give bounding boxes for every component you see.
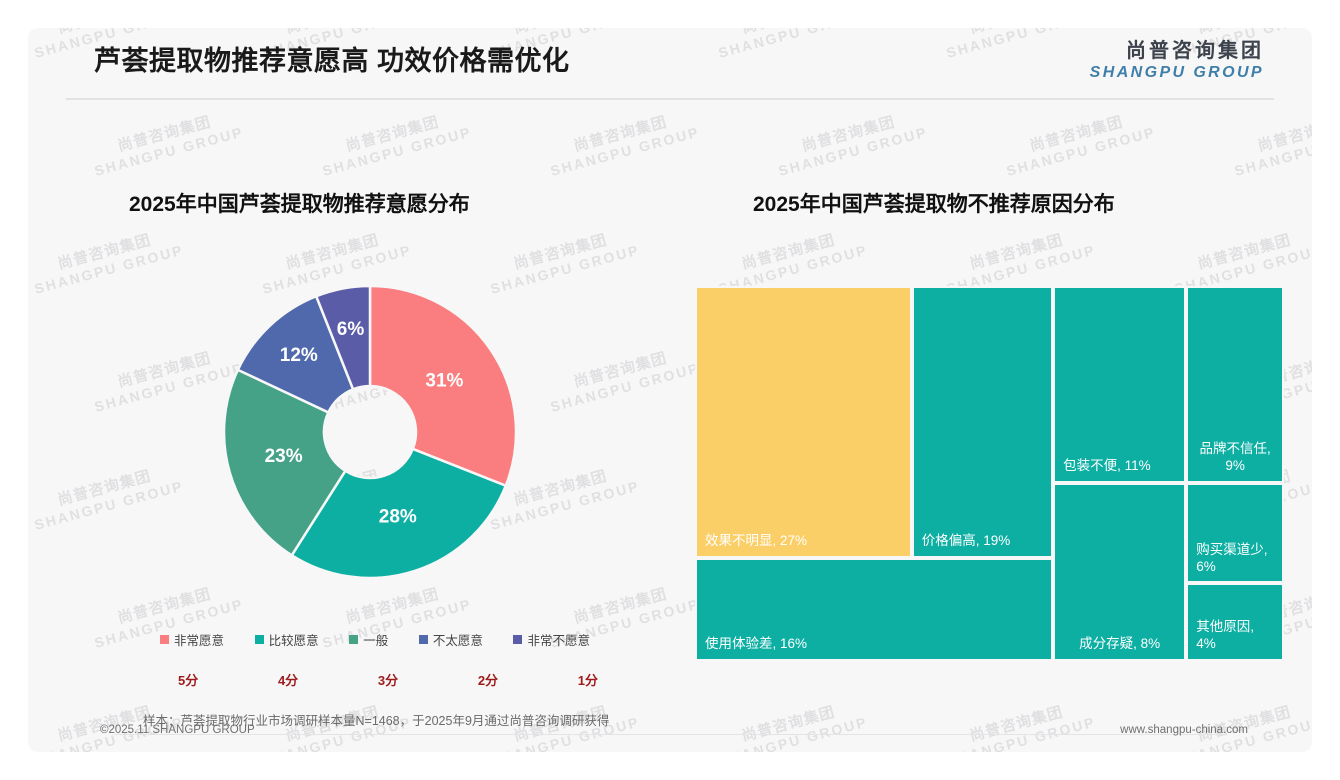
treemap-cell[interactable]: 价格偏高, 19% [912,286,1053,558]
watermark-text: 尚普咨询集团SHANGPU GROUP [1000,106,1157,179]
copyright-text: ©2025.11 SHANGPU GROUP [100,724,255,736]
slide-footer: ©2025.11 SHANGPU GROUP www.shangpu-china… [28,714,1312,752]
watermark-text: 尚普咨询集团SHANGPU GROUP [1228,106,1312,179]
left-chart-title: 2025年中国芦荟提取物推荐意愿分布 [129,188,470,218]
watermark-text: 尚普咨询集团SHANGPU GROUP [772,106,929,179]
legend-swatch-icon [160,635,169,644]
score-label: 1分 [578,670,598,689]
website-link[interactable]: www.shangpu-china.com [1120,724,1248,736]
watermark-text: 尚普咨询集团SHANGPU GROUP [88,106,245,179]
treemap-cell-label: 成分存疑, 8% [1055,636,1184,653]
legend-swatch-icon [419,635,428,644]
treemap-cell[interactable]: 购买渠道少, 6% [1186,483,1284,584]
legend-label: 不太愿意 [433,630,483,649]
legend-label: 非常不愿意 [527,630,590,649]
legend-item[interactable]: 不太愿意 [419,630,483,649]
treemap-cell[interactable]: 效果不明显, 27% [695,286,912,558]
donut-slice-label: 28% [379,507,417,528]
treemap-cell-label: 效果不明显, 27% [697,533,910,550]
legend-item[interactable]: 非常愿意 [160,630,224,649]
watermark-text: 尚普咨询集团SHANGPU GROUP [544,106,701,179]
donut-slice-label: 6% [337,319,365,340]
treemap-cell[interactable]: 成分存疑, 8% [1053,483,1186,661]
legend-label: 比较愿意 [269,630,319,649]
logo-english-text: SHANGPU GROUP [1090,64,1264,82]
watermark-text: 尚普咨询集团SHANGPU GROUP [28,224,185,297]
watermark-text: 尚普咨询集团SHANGPU GROUP [28,460,185,533]
treemap-cell-label: 其他原因, 4% [1188,619,1282,653]
header-divider [66,98,1274,100]
donut-legend: 非常愿意比较愿意一般不太愿意非常不愿意 [160,628,590,650]
score-label: 5分 [178,670,198,689]
treemap-cell[interactable]: 其他原因, 4% [1186,583,1284,661]
legend-item[interactable]: 非常不愿意 [513,630,590,649]
slide-header: 芦荟提取物推荐意愿高 功效价格需优化 尚普咨询集团 SHANGPU GROUP [28,28,1312,98]
donut-slice-label: 12% [280,345,318,366]
slide-canvas: 尚普咨询集团SHANGPU GROUP尚普咨询集团SHANGPU GROUP尚普… [28,28,1312,752]
donut-chart-svg: 31%28%23%12%6% [200,260,540,610]
treemap-cell[interactable]: 包装不便, 11% [1053,286,1186,483]
score-scale-row: 5分4分3分2分1分 [178,668,598,690]
donut-slice-group [224,286,516,578]
legend-swatch-icon [349,635,358,644]
score-label: 2分 [478,670,498,689]
score-label: 3分 [378,670,398,689]
right-chart-title: 2025年中国芦荟提取物不推荐原因分布 [753,188,1115,218]
watermark-text: 尚普咨询集团SHANGPU GROUP [316,106,473,179]
treemap-cell-label: 使用体验差, 16% [697,636,1051,653]
brand-logo: 尚普咨询集团 SHANGPU GROUP [1090,40,1264,82]
treemap-cell-label: 价格偏高, 19% [914,533,1051,550]
donut-slice-label: 31% [425,370,463,391]
donut-chart: 31%28%23%12%6% [200,260,540,610]
logo-chinese-text: 尚普咨询集团 [1090,40,1264,63]
treemap-chart: 效果不明显, 27%价格偏高, 19%使用体验差, 16%包装不便, 11%品牌… [695,286,1284,661]
legend-label: 一般 [363,630,388,649]
treemap-cell-label: 品牌不信任, 9% [1188,441,1282,475]
donut-slice-label: 23% [265,446,303,467]
legend-item[interactable]: 比较愿意 [255,630,319,649]
legend-label: 非常愿意 [174,630,224,649]
watermark-text: 尚普咨询集团SHANGPU GROUP [544,342,701,415]
score-label: 4分 [278,670,298,689]
legend-swatch-icon [513,635,522,644]
treemap-cell-label: 购买渠道少, 6% [1188,542,1282,576]
legend-item[interactable]: 一般 [349,630,388,649]
treemap-cell[interactable]: 品牌不信任, 9% [1186,286,1284,483]
legend-swatch-icon [255,635,264,644]
treemap-cell-label: 包装不便, 11% [1055,458,1184,475]
treemap-cell[interactable]: 使用体验差, 16% [695,558,1053,662]
page-title: 芦荟提取物推荐意愿高 功效价格需优化 [94,39,570,78]
